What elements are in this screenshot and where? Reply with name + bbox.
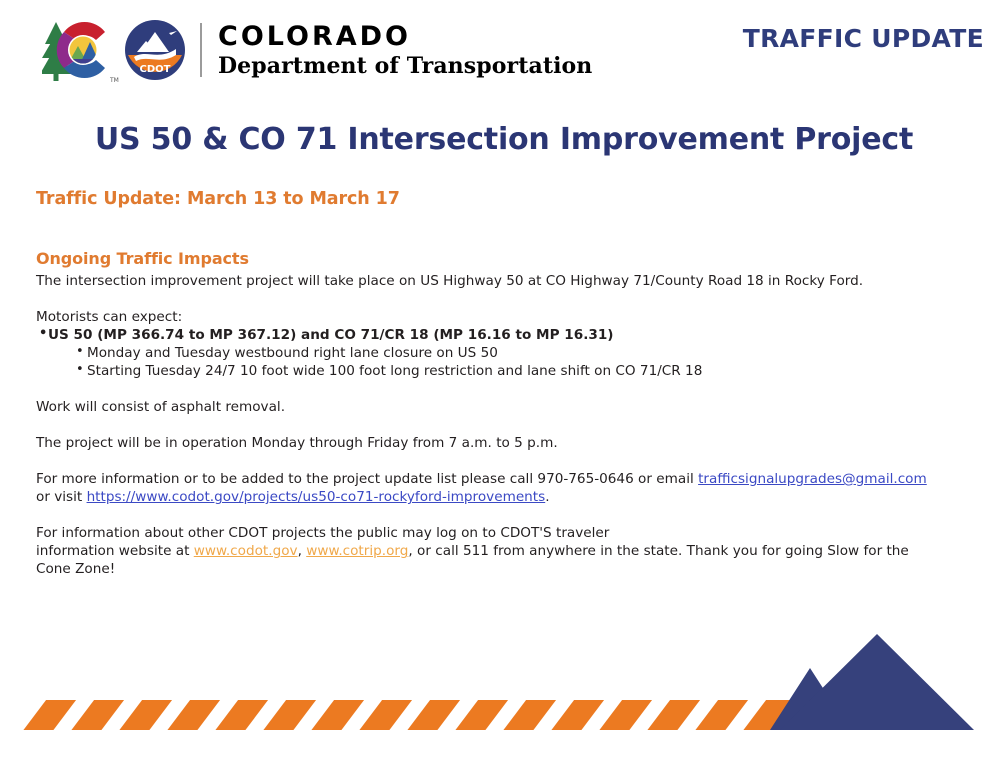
stripe-bar xyxy=(451,700,511,730)
contact-paragraph: For more information or to be added to t… xyxy=(36,470,976,488)
stripe-bar xyxy=(691,700,751,730)
state-name-text: COLORADO xyxy=(218,23,592,50)
visit-paragraph: or visit https://www.codot.gov/projects/… xyxy=(36,488,976,506)
stripe-bar xyxy=(403,700,463,730)
stripe-bar xyxy=(163,700,223,730)
cdot-logo-lockup: TM CDOT COLORADO Department of Transport… xyxy=(42,14,592,86)
cdot-circle-logo-icon: CDOT xyxy=(124,19,186,81)
link-separator: , xyxy=(298,543,307,559)
impacts-bullet-list: US 50 (MP 366.74 to MP 367.12) and CO 71… xyxy=(36,326,976,380)
traffic-update-tag: TRAFFIC UPDATE xyxy=(743,24,984,53)
project-url-link[interactable]: https://www.codot.gov/projects/us50-co71… xyxy=(87,489,546,505)
other-projects-line1: For information about other CDOT project… xyxy=(36,524,976,542)
visit-lead-text: or visit xyxy=(36,489,87,505)
stripe-bar xyxy=(595,700,655,730)
bullet-mileposts: US 50 (MP 366.74 to MP 367.12) and CO 71… xyxy=(36,326,976,380)
footer-graphic xyxy=(0,620,1008,760)
contact-lead-text: For more information or to be added to t… xyxy=(36,471,698,487)
stripe-bar xyxy=(115,700,175,730)
page-header: TM CDOT COLORADO Department of Transport… xyxy=(0,0,1008,100)
mountain-main-peak xyxy=(780,634,974,730)
operation-hours-text: The project will be in operation Monday … xyxy=(36,434,976,452)
other-projects-line2: information website at www.codot.gov, ww… xyxy=(36,542,976,560)
project-email-link[interactable]: trafficsignalupgrades@gmail.com xyxy=(698,471,927,487)
cone-zone-stripes xyxy=(0,700,790,730)
stripe-bar xyxy=(499,700,559,730)
stripe-bar xyxy=(355,700,415,730)
other-projects-lead-text: information website at xyxy=(36,543,194,559)
motorists-expect-label: Motorists can expect: xyxy=(36,308,976,326)
other-projects-line3: Cone Zone! xyxy=(36,560,976,578)
mountain-icon xyxy=(770,634,970,730)
body-content: Traffic Update: March 13 to March 17 Ong… xyxy=(36,188,976,578)
cdot-abbrev-text: CDOT xyxy=(140,64,171,75)
stripe-bar xyxy=(547,700,607,730)
stripe-bar xyxy=(19,700,79,730)
department-name-text: Department of Transportation xyxy=(218,55,592,77)
codot-gov-link[interactable]: www.codot.gov xyxy=(194,543,298,559)
stripe-bar xyxy=(211,700,271,730)
page-title: US 50 & CO 71 Intersection Improvement P… xyxy=(0,122,1008,157)
bullet-lane-shift: Starting Tuesday 24/7 10 foot wide 100 f… xyxy=(76,362,976,380)
colorado-c-logo-icon: TM xyxy=(42,14,120,86)
bullet-mileposts-text: US 50 (MP 366.74 to MP 367.12) and CO 71… xyxy=(48,327,614,343)
stripe-bar xyxy=(67,700,127,730)
update-range-heading: Traffic Update: March 13 to March 17 xyxy=(36,188,976,211)
logo-wordmark: COLORADO Department of Transportation xyxy=(218,23,592,77)
ongoing-impacts-text: The intersection improvement project wil… xyxy=(36,272,976,290)
stripe-bar xyxy=(643,700,703,730)
svg-text:TM: TM xyxy=(109,77,119,84)
logo-divider xyxy=(200,23,202,77)
work-scope-text: Work will consist of asphalt removal. xyxy=(36,398,976,416)
stripe-bar xyxy=(307,700,367,730)
impacts-sub-bullet-list: Monday and Tuesday westbound right lane … xyxy=(48,344,976,380)
bullet-lane-closure: Monday and Tuesday westbound right lane … xyxy=(76,344,976,362)
stripe-bar xyxy=(259,700,319,730)
other-projects-trailing-text: , or call 511 from anywhere in the state… xyxy=(408,543,908,559)
cotrip-org-link[interactable]: www.cotrip.org xyxy=(306,543,408,559)
ongoing-impacts-heading: Ongoing Traffic Impacts xyxy=(36,248,976,269)
visit-trailing-period: . xyxy=(545,489,549,505)
